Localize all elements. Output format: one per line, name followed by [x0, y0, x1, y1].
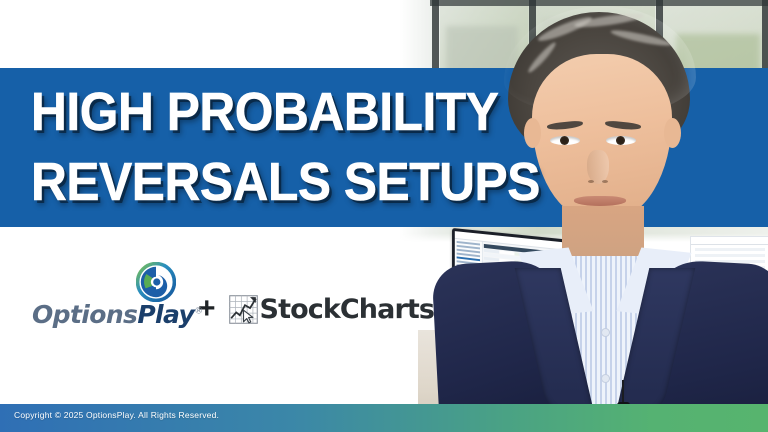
optionsplay-logo: OptionsPlay®	[32, 262, 192, 338]
shirt-button	[601, 328, 610, 337]
ear-right	[664, 118, 681, 148]
mouth	[574, 196, 626, 206]
nose	[587, 150, 609, 184]
video-thumbnail: HIGH PROBABILITY REVERSALS SETUPS	[0, 0, 768, 432]
stockcharts-grid-cursor-icon	[229, 295, 258, 324]
nostril	[588, 180, 594, 183]
eye-right	[606, 136, 636, 145]
presenter-portrait	[470, 10, 768, 432]
iris	[616, 136, 625, 145]
copyright-text: Copyright © 2025 OptionsPlay. All Rights…	[14, 410, 219, 420]
ear-left	[524, 118, 541, 148]
microphone-wire	[622, 380, 624, 404]
iris	[560, 136, 569, 145]
registered-trademark-mark: ®	[194, 307, 202, 317]
nostril	[602, 180, 608, 183]
logo-lockup: OptionsPlay® +	[32, 262, 434, 338]
optionsplay-word-play: Play	[137, 300, 194, 329]
stockcharts-wordmark: StockCharts	[260, 294, 435, 325]
shirt-button	[601, 374, 610, 383]
eye-left	[550, 136, 580, 145]
optionsplay-wordmark: OptionsPlay®	[32, 300, 203, 329]
stockcharts-logo: StockCharts	[229, 294, 435, 325]
optionsplay-word-options: Options	[32, 300, 137, 329]
optionsplay-swirl-icon	[136, 262, 176, 302]
